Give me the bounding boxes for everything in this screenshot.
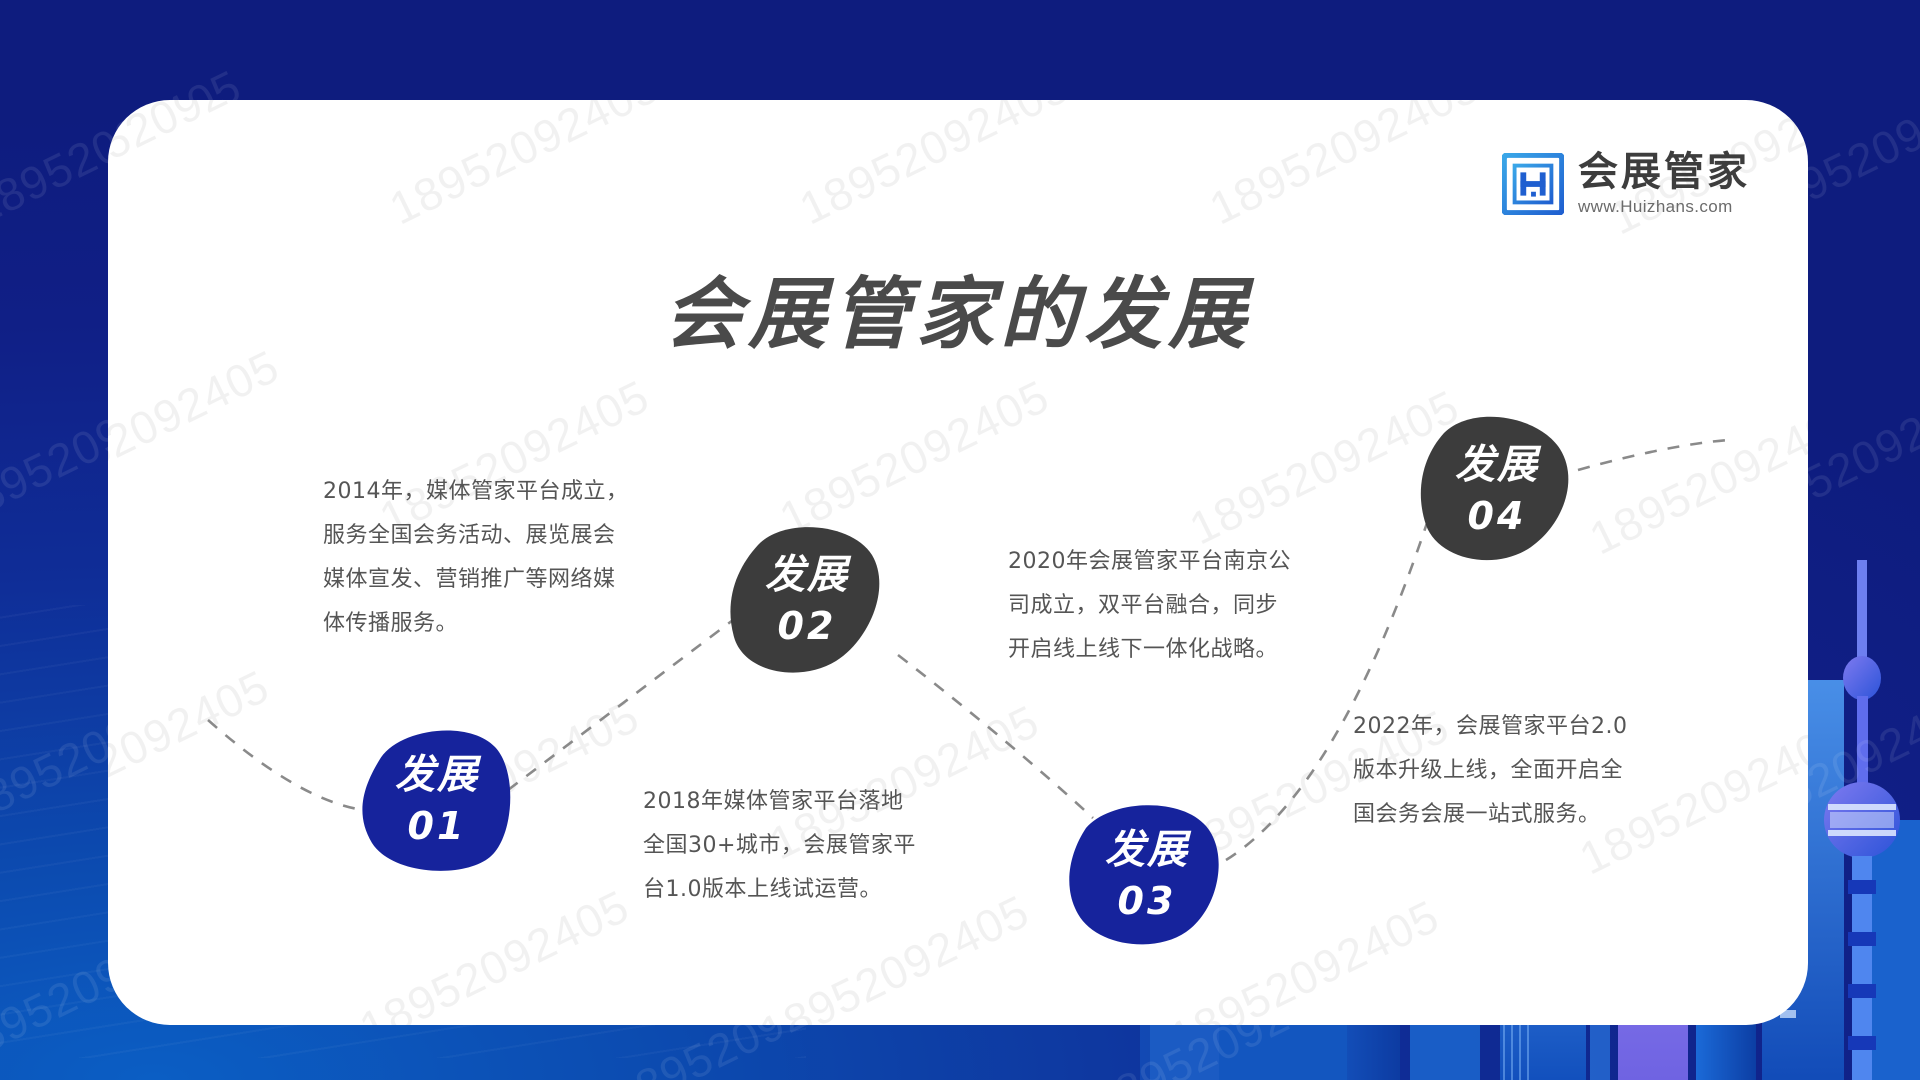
badge-number: 03 <box>1118 882 1177 920</box>
badge-blob-shape-icon <box>1418 415 1576 565</box>
badge-blob-shape-icon <box>1068 800 1226 950</box>
badge-blob-shape-icon <box>358 725 516 875</box>
slide-root: 18952092405 18952092405 18952092405 1895… <box>0 0 1920 1080</box>
badge-blob-shape-icon <box>728 525 886 675</box>
milestone-description-03: 2020年会展管家平台南京公司成立，双平台融合，同步开启线上线下一体化战略。 <box>1008 540 1298 672</box>
milestone-badge-02[interactable]: 发展 02 <box>728 525 886 675</box>
milestone-badge-01[interactable]: 发展 01 <box>358 725 516 875</box>
timeline: 发展 01 发展 02 发展 <box>108 100 1808 1025</box>
milestone-description-01: 2014年，媒体管家平台成立，服务全国会务活动、展览展会媒体宣发、营销推广等网络… <box>323 470 633 646</box>
content-card: 18952092405 18952092405 18952092405 1895… <box>108 100 1808 1025</box>
badge-label: 发展 <box>1105 830 1189 870</box>
milestone-badge-03[interactable]: 发展 03 <box>1068 800 1226 950</box>
badge-number: 01 <box>408 807 467 845</box>
badge-number: 04 <box>1468 497 1527 535</box>
badge-label: 发展 <box>765 555 849 595</box>
badge-label: 发展 <box>1455 445 1539 485</box>
milestone-badge-04[interactable]: 发展 04 <box>1418 415 1576 565</box>
badge-number: 02 <box>778 607 837 645</box>
milestone-description-04: 2022年，会展管家平台2.0版本升级上线，全面开启全国会务会展一站式服务。 <box>1353 705 1643 837</box>
milestone-description-02: 2018年媒体管家平台落地全国30+城市，会展管家平台1.0版本上线试运营。 <box>643 780 918 912</box>
badge-label: 发展 <box>395 755 479 795</box>
